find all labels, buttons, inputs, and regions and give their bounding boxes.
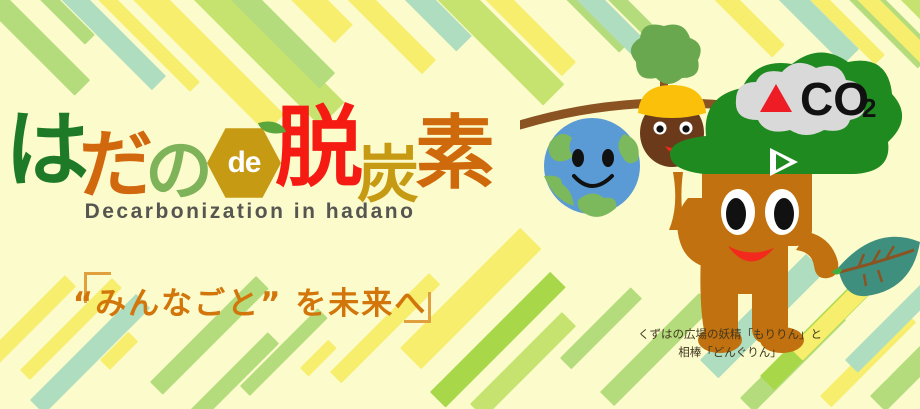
held-leaf-icon [832, 237, 920, 296]
mascot-caption: くずはの広場の妖精「もりりん」と 相棒「どんぐりん」 [600, 326, 860, 362]
logo-char-ha: は [5, 108, 85, 192]
logo-char-so: 素 [415, 114, 495, 194]
decorative-stripe [98, 0, 200, 92]
decorative-stripe [364, 0, 471, 51]
decorative-stripe [190, 332, 279, 409]
campaign-banner: は だ の de 脱 炭 素 Decarbonization in hadano… [0, 0, 920, 409]
moririn-character: CO 2 [670, 52, 920, 353]
earth-character [544, 118, 640, 217]
logo-block: は だ の de 脱 炭 素 Decarbonization in hadano [0, 104, 500, 224]
decorative-stripe [100, 332, 138, 370]
decorative-stripe [300, 340, 337, 377]
decorative-stripe [206, 0, 335, 89]
co2-subscript: 2 [862, 93, 876, 123]
decorative-stripe [46, 0, 166, 90]
co2-label: CO [800, 73, 869, 125]
de-badge-label: de [207, 126, 281, 200]
logo-char-datsu: 脱 [275, 104, 359, 192]
bracket-bottom-right [404, 292, 431, 323]
tagline-block: “みんなごと” を未来へ [0, 272, 500, 334]
decorative-stripe [250, 0, 353, 43]
logo-char-no: の [145, 138, 213, 206]
caption-line-2: 相棒「どんぐりん」 [600, 344, 860, 362]
earth-eye-right [602, 149, 614, 167]
decorative-stripe [0, 0, 90, 96]
logo-subtitle: Decarbonization in hadano [0, 200, 500, 224]
logo-lockup: は だ の de 脱 炭 素 [0, 104, 500, 192]
decorative-stripe [0, 0, 95, 45]
decorative-stripe [316, 0, 436, 74]
earth-eye-left [572, 149, 584, 167]
logo-char-da: だ [79, 128, 149, 202]
logo-char-tan: 炭 [357, 144, 419, 206]
caption-line-1: くずはの広場の妖精「もりりん」と [600, 326, 860, 344]
de-hexagon-badge: de [207, 126, 281, 200]
